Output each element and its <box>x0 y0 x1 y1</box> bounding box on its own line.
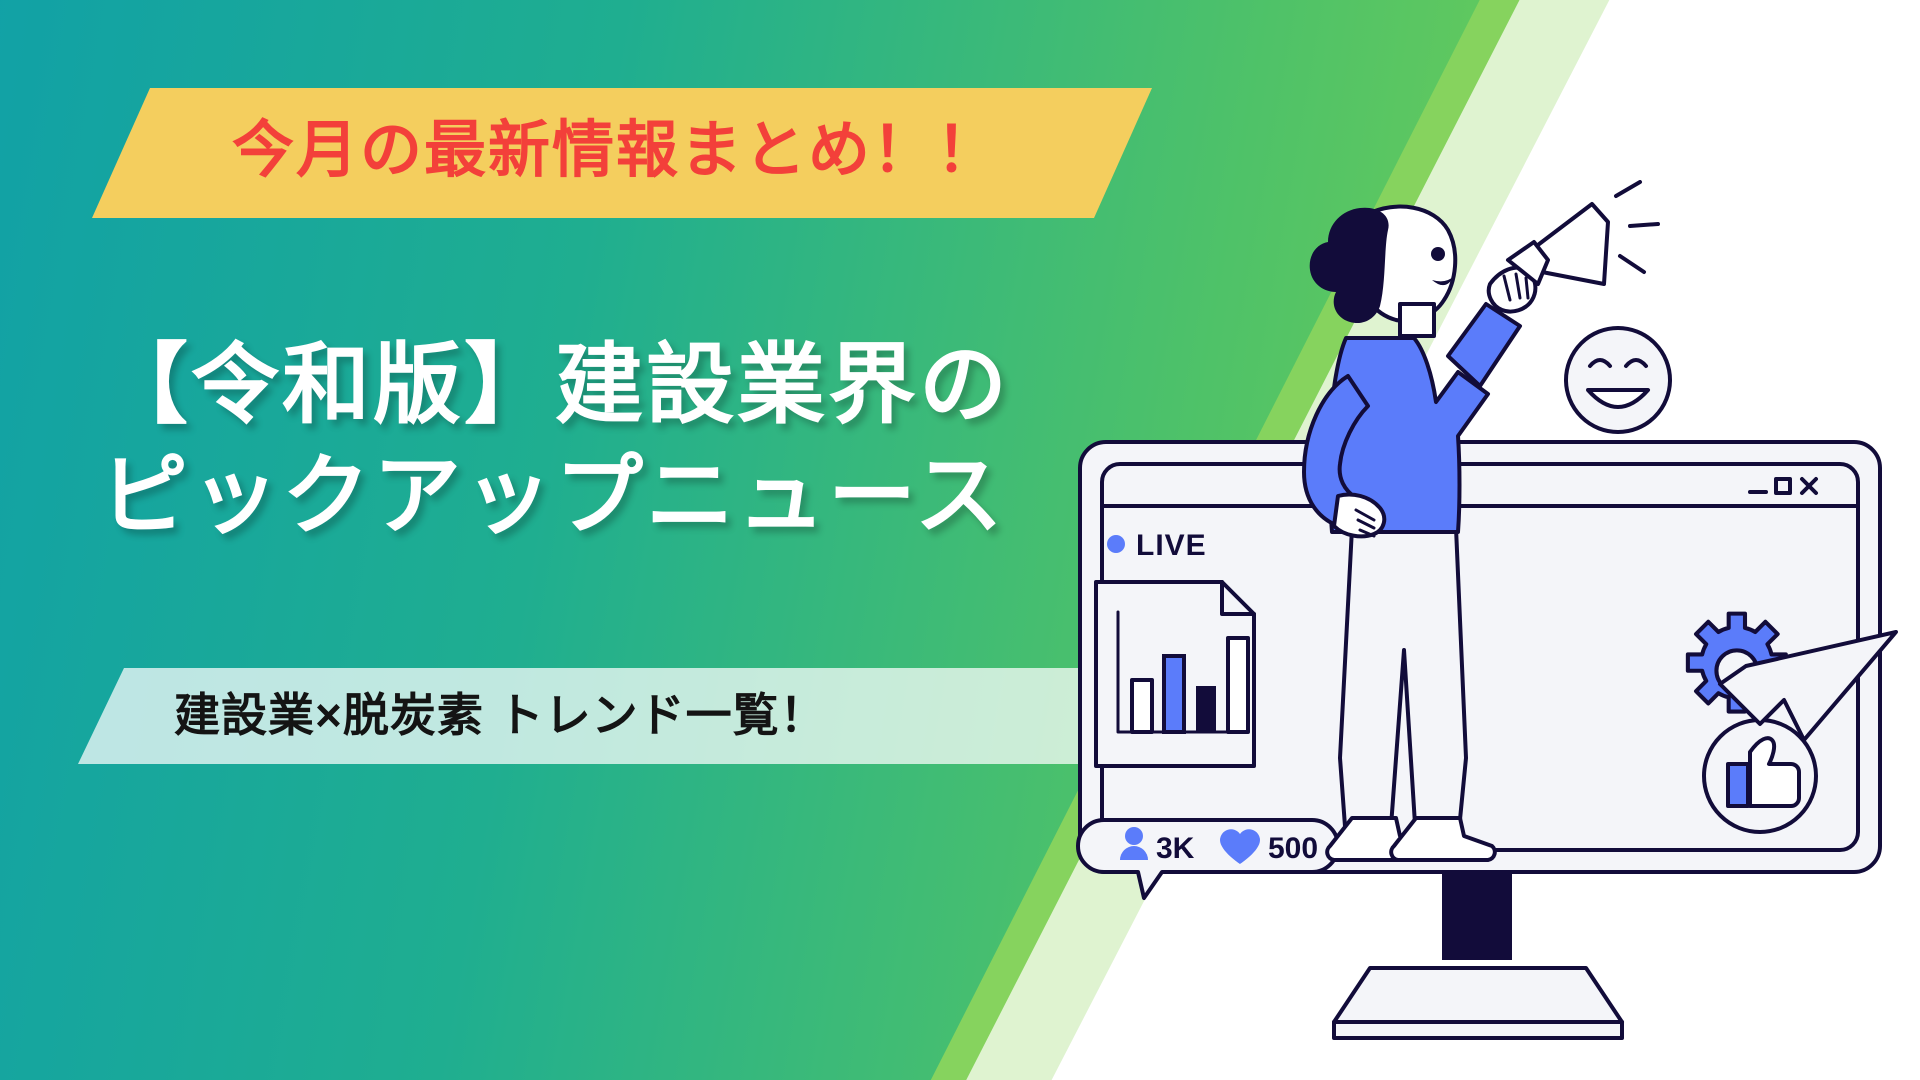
chart-bar-2 <box>1164 656 1184 732</box>
stat-value-followers: 3K <box>1156 832 1195 865</box>
chart-bar-1 <box>1132 680 1152 732</box>
thumbs-up-icon <box>1704 720 1816 832</box>
page-title: 【令和版】建設業界の ピックアップニュース <box>100 330 1100 552</box>
stats-pill: 3K 500 <box>1078 820 1338 898</box>
chart-bar-4 <box>1228 638 1248 732</box>
document-chart-icon <box>1096 582 1254 766</box>
monitor-neck <box>1442 872 1512 960</box>
svg-text:LIVE: LIVE <box>1136 529 1207 562</box>
page-title-line-1: 【令和版】建設業界の <box>100 330 1100 441</box>
highlight-ribbon: 今月の最新情報まとめ！！ <box>92 88 1152 218</box>
page-title-line-2: ピックアップニュース <box>100 441 1100 552</box>
subtitle-ribbon-text: 建設業×脱炭素 トレンド一覧！ <box>174 692 827 738</box>
highlight-ribbon-text: 今月の最新情報まとめ！！ <box>232 120 1000 182</box>
monitor-base <box>1334 968 1622 1022</box>
stat-value-likes: 500 <box>1268 832 1318 865</box>
monitor-illustration: LIVE <box>1078 442 1896 1038</box>
smiley-icon <box>1566 328 1670 432</box>
chart-bar-3 <box>1196 686 1216 732</box>
hero-illustration: .ink { fill:none; stroke:#120c3a; stroke… <box>1060 180 1920 1080</box>
banner-canvas: 今月の最新情報まとめ！！ 【令和版】建設業界の ピックアップニュース 建設業×脱… <box>0 0 1920 1080</box>
subtitle-ribbon: 建設業×脱炭素 トレンド一覧！ <box>78 668 1148 764</box>
megaphone-icon <box>1508 182 1658 284</box>
